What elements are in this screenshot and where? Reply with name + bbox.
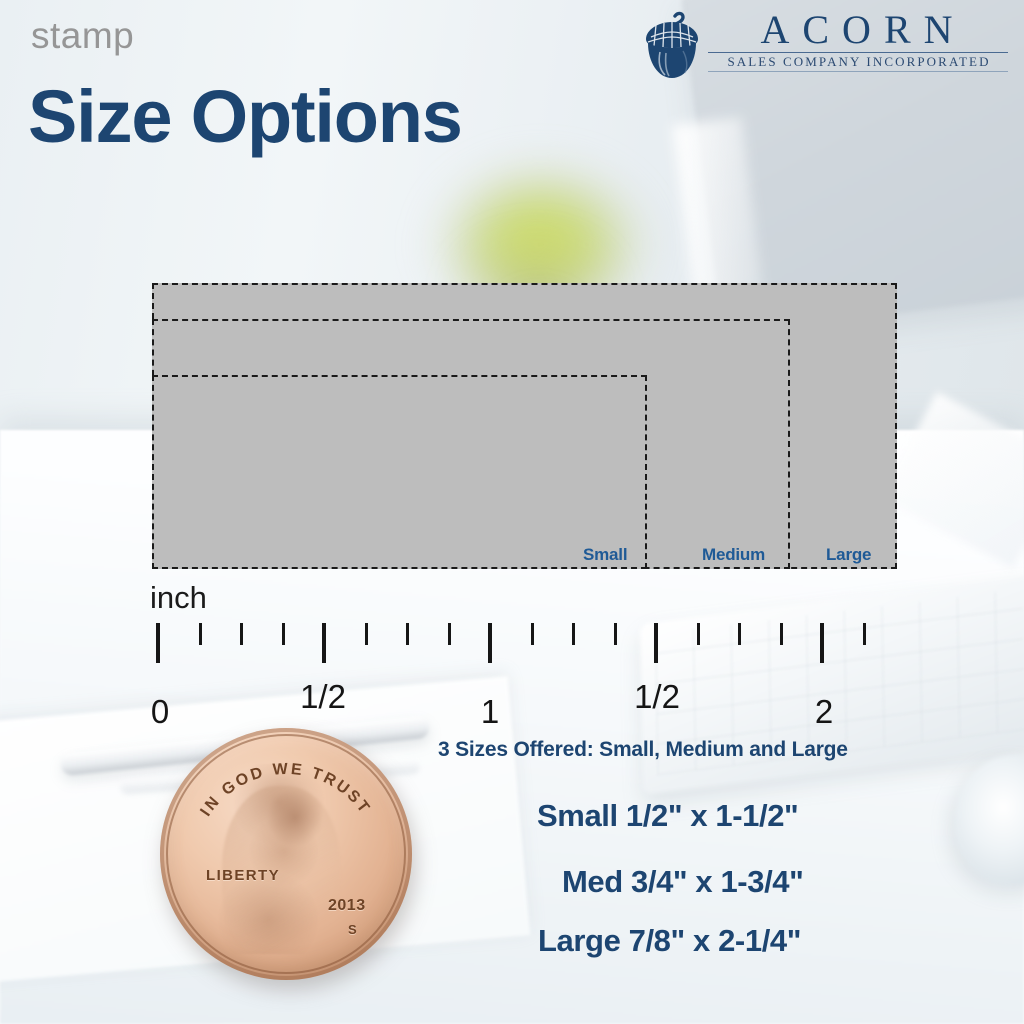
coin-motto-text: IN GOD WE TRUST [197,761,373,820]
size-spec-small: Small 1/2" x 1-1/2" [537,800,798,831]
ruler-tick-minor [614,623,617,645]
ruler-tick-minor [780,623,783,645]
ruler-tick-minor [572,623,575,645]
ruler-label-half-1: 1/2 [288,680,358,713]
ruler-tick-minor [863,623,866,645]
ruler-tick-major [322,623,326,663]
ruler-tick-minor [365,623,368,645]
coin-motto: IN GOD WE TRUST [160,728,412,980]
ruler-tick-minor [199,623,202,645]
sizes-offered-heading: 3 Sizes Offered: Small, Medium and Large [438,739,848,760]
ruler-tick-minor [738,623,741,645]
ruler-tick-minor [697,623,700,645]
ruler-tick-minor [240,623,243,645]
ruler-tick-major [654,623,658,663]
ruler-tick-minor [448,623,451,645]
ruler-tick-minor [531,623,534,645]
coin-liberty-text: LIBERTY [206,868,280,883]
page-root: stamp Size Options ACORN SALES CO [0,0,1024,1024]
ruler-tick-minor [282,623,285,645]
size-spec-large: Large 7/8" x 2-1/4" [538,925,801,956]
ruler-label-half-2: 1/2 [622,680,692,713]
coin-year-text: 2013 [328,898,366,914]
ruler-label-0: 0 [140,695,180,728]
size-spec-medium: Med 3/4" x 1-3/4" [562,866,803,897]
ruler-tick-major [820,623,824,663]
ruler: inch 0 1/2 1 1/2 2 [0,0,1024,1024]
ruler-tick-minor [406,623,409,645]
coin-mintmark-text: S [348,923,357,936]
ruler-label-1: 1 [470,695,510,728]
ruler-label-2: 2 [804,695,844,728]
ruler-unit-label: inch [150,582,207,613]
penny-coin: IN GOD WE TRUST LIBERTY 2013 S [160,728,412,980]
svg-text:IN GOD WE TRUST: IN GOD WE TRUST [197,761,373,820]
ruler-tick-major [156,623,160,663]
ruler-tick-major [488,623,492,663]
